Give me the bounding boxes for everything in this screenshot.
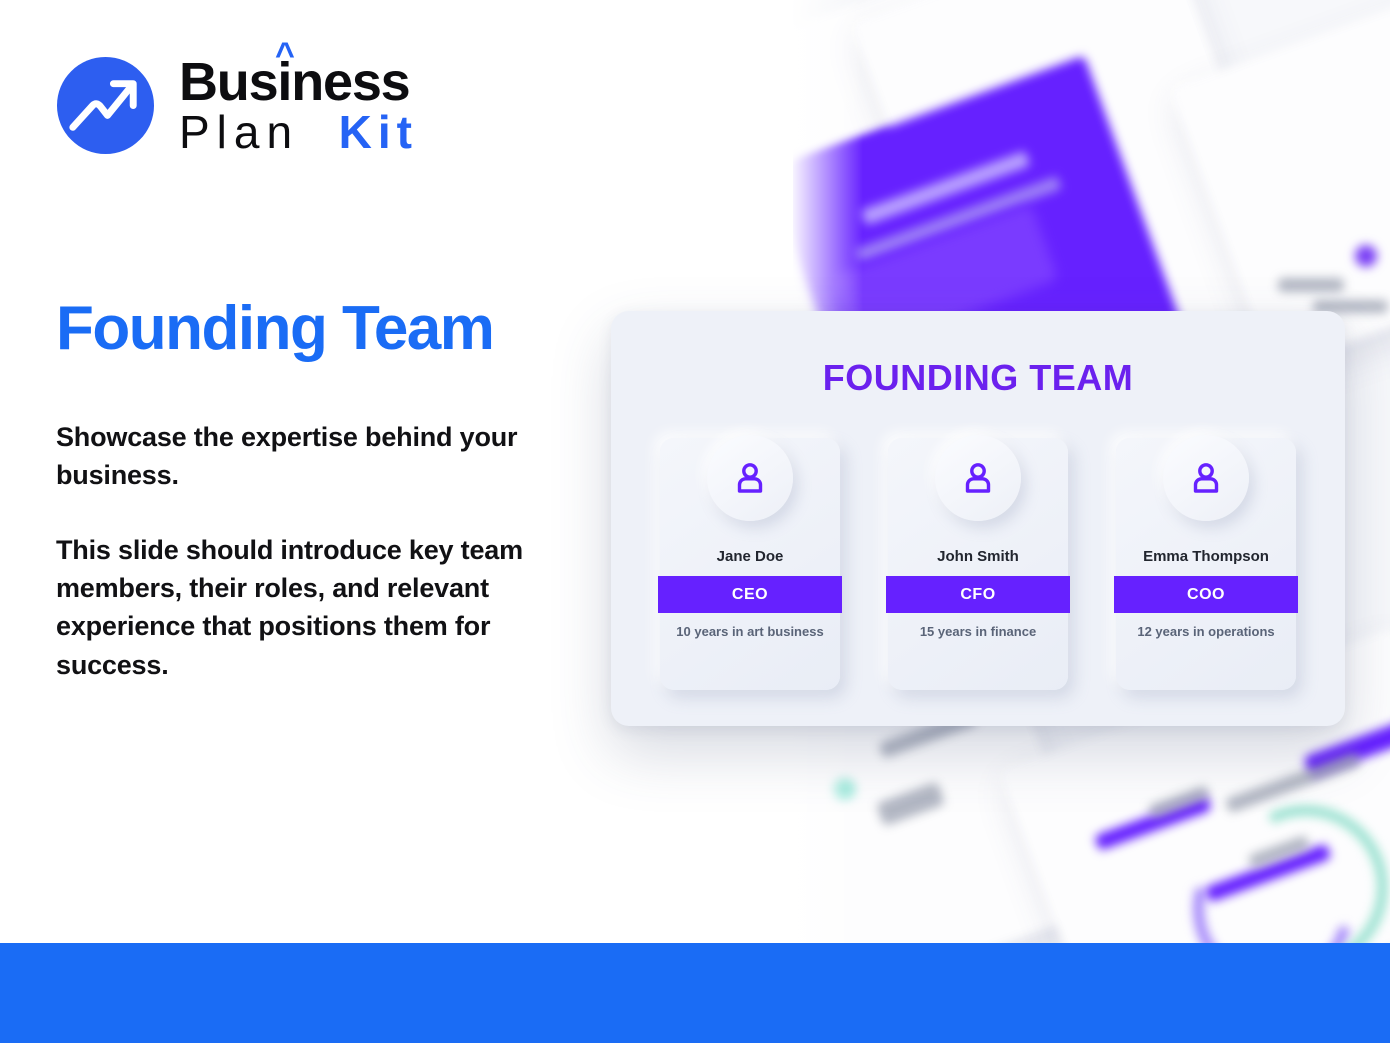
team-member-list: Jane Doe CEO 10 years in art business Jo… bbox=[611, 438, 1345, 690]
slide-preview-page: Bus^iness Plan Kit Founding Team Showcas… bbox=[0, 0, 1390, 1043]
member-name: Jane Doe bbox=[660, 548, 840, 565]
brand-business-post: ness bbox=[291, 55, 409, 109]
bg-dot bbox=[1355, 245, 1377, 267]
status-badge: COO bbox=[1114, 576, 1298, 613]
user-icon bbox=[961, 461, 995, 495]
brand-kit: Kit bbox=[339, 106, 418, 158]
avatar bbox=[1163, 435, 1249, 521]
brand-plan: Plan bbox=[179, 106, 299, 158]
team-member-card[interactable]: John Smith CFO 15 years in finance bbox=[888, 438, 1068, 690]
avatar bbox=[707, 435, 793, 521]
growth-arrow-icon bbox=[56, 56, 155, 155]
brand-business-i: ^i bbox=[277, 55, 291, 109]
slide-title: FOUNDING TEAM bbox=[611, 357, 1345, 399]
member-experience: 12 years in operations bbox=[1116, 624, 1296, 639]
member-name: Emma Thompson bbox=[1116, 548, 1296, 565]
member-experience: 15 years in finance bbox=[888, 624, 1068, 639]
description-paragraph-2: This slide should introduce key team mem… bbox=[56, 531, 576, 684]
description-paragraph-1: Showcase the expertise behind your busin… bbox=[56, 418, 576, 495]
team-member-card[interactable]: Jane Doe CEO 10 years in art business bbox=[660, 438, 840, 690]
team-member-card[interactable]: Emma Thompson COO 12 years in operations bbox=[1116, 438, 1296, 690]
circumflex-accent-icon: ^ bbox=[275, 38, 294, 72]
member-name: John Smith bbox=[888, 548, 1068, 565]
brand-business-pre: Bus bbox=[179, 55, 277, 109]
slide-preview-card[interactable]: FOUNDING TEAM Jane Doe CEO 10 years in a… bbox=[611, 311, 1345, 726]
user-icon bbox=[733, 461, 767, 495]
bg-dot bbox=[833, 778, 855, 800]
avatar bbox=[935, 435, 1021, 521]
user-icon bbox=[1189, 461, 1223, 495]
brand-line-plankit: Plan Kit bbox=[179, 106, 418, 158]
brand-wordmark: Bus^iness Plan Kit bbox=[179, 55, 418, 155]
description-block: Showcase the expertise behind your busin… bbox=[56, 418, 576, 684]
page-title: Founding Team bbox=[56, 296, 493, 361]
footer-bar bbox=[0, 943, 1390, 1043]
status-badge: CFO bbox=[886, 576, 1070, 613]
status-badge: CEO bbox=[658, 576, 842, 613]
brand-logo: Bus^iness Plan Kit bbox=[56, 55, 418, 155]
brand-line-business: Bus^iness bbox=[179, 55, 418, 109]
member-experience: 10 years in art business bbox=[660, 624, 840, 639]
bg-text-bar bbox=[1278, 278, 1344, 292]
